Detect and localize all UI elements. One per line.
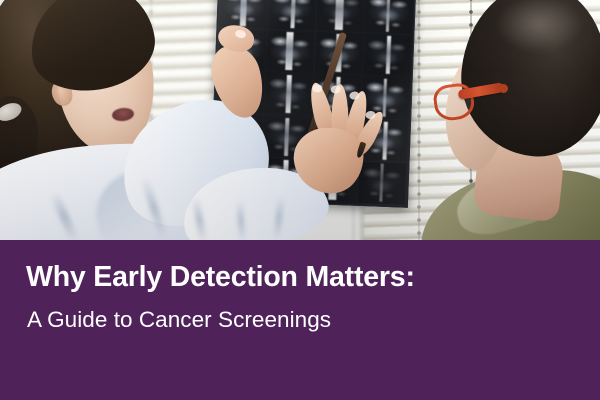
mri-slice	[363, 34, 411, 77]
page-title: Why Early Detection Matters:	[26, 262, 415, 293]
mri-slice	[365, 0, 413, 34]
mri-slice	[316, 0, 364, 32]
mri-slice	[266, 30, 314, 73]
hero-photo	[0, 0, 600, 240]
blog-header-banner: Why Early Detection Matters: A Guide to …	[0, 0, 600, 400]
page-subtitle: A Guide to Cancer Screenings	[27, 307, 331, 333]
blind-cord-icon	[418, 0, 420, 240]
mri-slice	[268, 0, 316, 30]
doctor-hand-pointing	[283, 81, 404, 200]
eyeglasses-hinge	[499, 84, 508, 93]
